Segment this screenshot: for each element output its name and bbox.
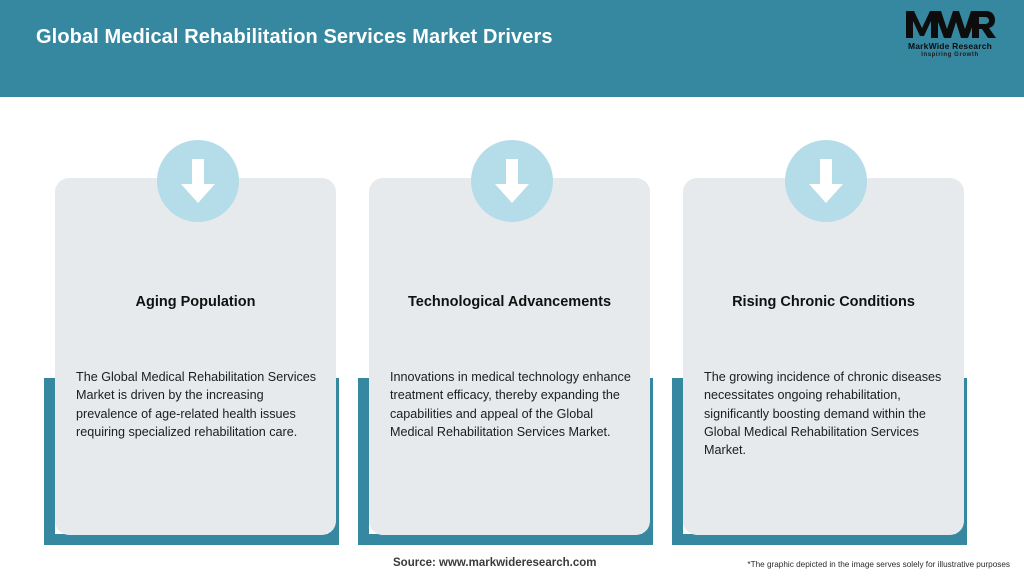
down-arrow-badge (157, 140, 239, 222)
card-title: Rising Chronic Conditions (693, 294, 954, 311)
down-arrow-badge (471, 140, 553, 222)
infographic-page: Global Medical Rehabilitation Services M… (0, 0, 1024, 576)
card-surface: Aging Population The Global Medical Reha… (55, 178, 336, 535)
card-title: Aging Population (65, 294, 326, 311)
down-arrow-icon (492, 157, 532, 205)
down-arrow-icon (178, 157, 218, 205)
disclaimer-note: *The graphic depicted in the image serve… (747, 560, 1010, 569)
driver-card-3: Rising Chronic Conditions The growing in… (669, 140, 983, 550)
down-arrow-icon (806, 157, 846, 205)
card-title: Technological Advancements (379, 294, 640, 311)
down-arrow-badge (785, 140, 867, 222)
driver-card-1: Aging Population The Global Medical Reha… (41, 140, 355, 550)
driver-cards-container: Aging Population The Global Medical Reha… (0, 0, 1024, 576)
card-surface: Rising Chronic Conditions The growing in… (683, 178, 964, 535)
source-label: Source: www.markwideresearch.com (393, 557, 596, 569)
driver-card-2: Technological Advancements Innovations i… (355, 140, 669, 550)
card-body-text: The Global Medical Rehabilitation Servic… (76, 368, 322, 441)
card-body-text: Innovations in medical technology enhanc… (390, 368, 636, 441)
card-surface: Technological Advancements Innovations i… (369, 178, 650, 535)
card-body-text: The growing incidence of chronic disease… (704, 368, 950, 459)
